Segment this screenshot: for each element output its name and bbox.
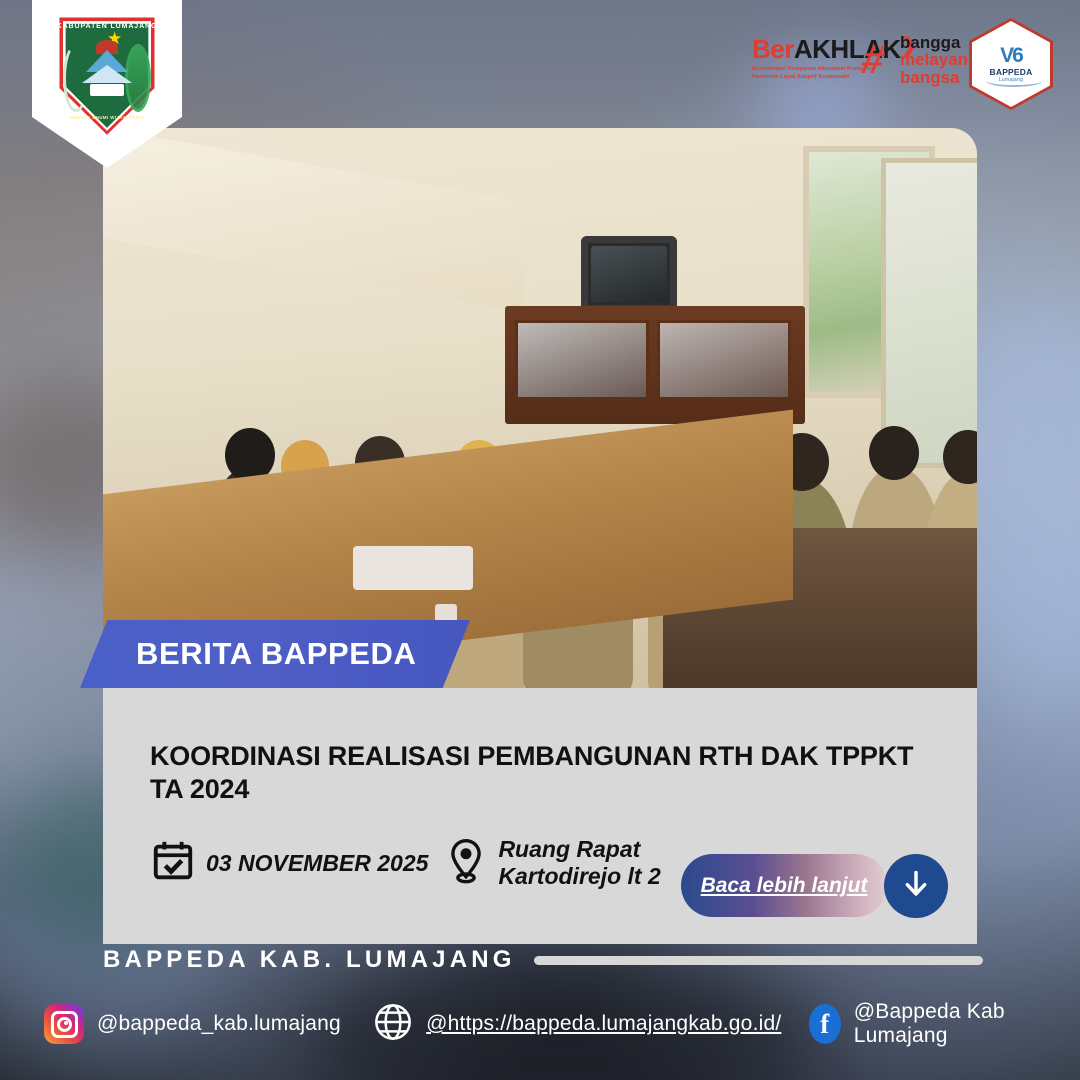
scroll-down-button[interactable] — [884, 854, 948, 918]
berakhlak-values-line1: Berorientasi Pelayanan Akuntabel Kompete… — [752, 66, 875, 72]
instagram-handle: @bappeda_kab.lumajang — [97, 1012, 341, 1036]
bappeda-logo-swoosh — [986, 75, 1042, 87]
read-more-button[interactable]: Baca lebih lanjut — [681, 854, 887, 917]
crest-ribbon-text: AMERTA BHUMI WIJAYAKERTI — [70, 115, 144, 120]
berakhlak-ber: Ber — [752, 34, 794, 64]
instagram-link[interactable]: @bappeda_kab.lumajang — [44, 1004, 341, 1044]
hash-icon: # — [858, 40, 889, 80]
hero-photo — [103, 128, 977, 688]
page-title: KOORDINASI REALISASI PEMBANGUNAN RTH DAK… — [150, 740, 940, 806]
read-more-label: Baca lebih lanjut — [701, 874, 868, 898]
photo-television — [581, 236, 677, 312]
event-location-line1: Ruang Rapat — [498, 836, 640, 862]
crest-icon: KABUPATEN LUMAJANG ★ AMERTA BHUMI WIJAYA… — [53, 10, 161, 136]
instagram-icon — [44, 1004, 84, 1044]
facebook-icon: f — [809, 1004, 841, 1044]
website-url: @https://bappeda.lumajangkab.go.id/ — [426, 1012, 781, 1036]
crest-base — [90, 84, 124, 96]
event-date: 03 NOVEMBER 2025 — [150, 838, 428, 889]
photo-cabinet — [505, 306, 805, 424]
photo-projector — [353, 546, 473, 590]
social-footer: @bappeda_kab.lumajang @https://bappeda.l… — [44, 1000, 1054, 1048]
website-link[interactable]: @https://bappeda.lumajangkab.go.id/ — [373, 1002, 781, 1047]
map-pin-icon — [444, 838, 488, 889]
calendar-check-icon — [150, 838, 196, 889]
poster-canvas: KABUPATEN LUMAJANG ★ AMERTA BHUMI WIJAYA… — [0, 0, 1080, 1080]
photo-person-head — [869, 426, 919, 480]
brand-name: BAPPEDA KAB. LUMAJANG — [103, 946, 516, 974]
crest-wreath-left — [63, 44, 89, 112]
event-location-line2: Kartodirejo lt 2 — [498, 863, 660, 889]
facebook-link[interactable]: f @Bappeda Kab Lumajang — [809, 1000, 1054, 1048]
globe-icon — [373, 1002, 413, 1047]
berakhlak-values-line2: Harmonis Loyal Adaptif Kolaboratif — [752, 74, 849, 80]
event-date-text: 03 NOVEMBER 2025 — [206, 850, 428, 877]
crest-wreath-right — [125, 44, 151, 112]
event-location: Ruang Rapat Kartodirejo lt 2 — [444, 836, 660, 890]
photo-window-secondary — [881, 158, 977, 468]
bappeda-logo: V6 BAPPEDA Lumajang — [969, 18, 1053, 110]
arrow-down-icon — [900, 868, 932, 905]
facebook-handle: @Bappeda Kab Lumajang — [854, 1000, 1054, 1048]
berita-banner-label: BERITA BAPPEDA — [136, 636, 417, 672]
event-location-text: Ruang Rapat Kartodirejo lt 2 — [498, 836, 660, 890]
brand-bar: BAPPEDA KAB. LUMAJANG — [103, 946, 983, 974]
event-meta: 03 NOVEMBER 2025 Ruang Rapat Kartodirejo… — [150, 836, 661, 890]
brand-divider — [534, 956, 983, 965]
bappeda-logo-mark: V6 — [1000, 45, 1022, 66]
berita-banner: BERITA BAPPEDA — [80, 620, 470, 688]
